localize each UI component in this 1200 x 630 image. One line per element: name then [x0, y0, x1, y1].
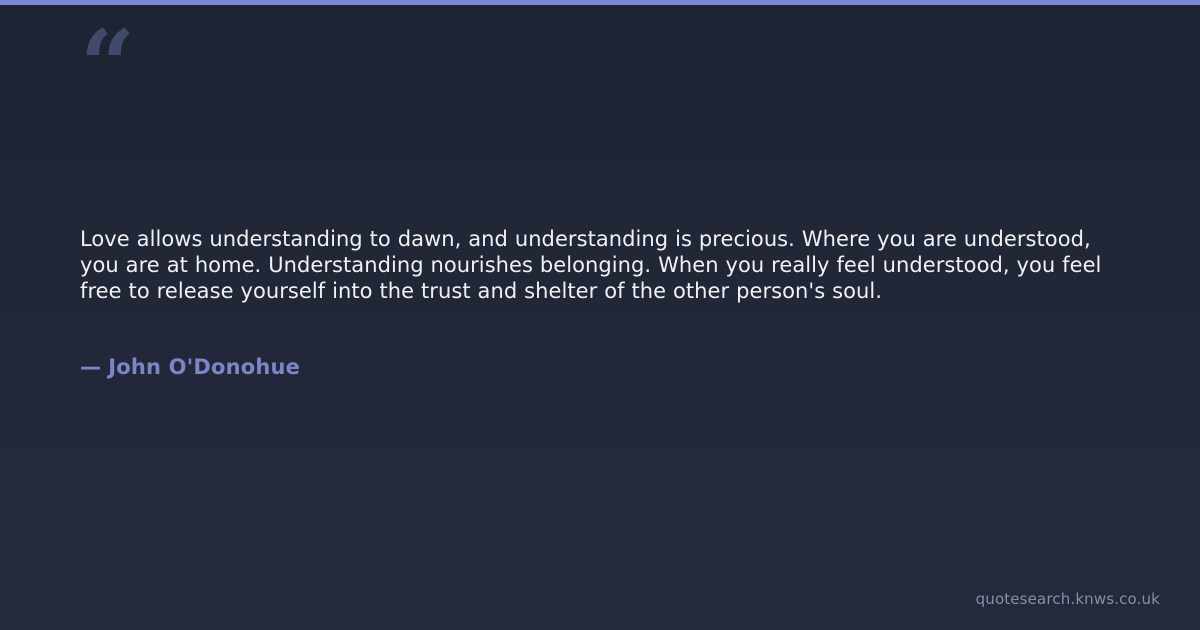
quote-attribution: —John O'Donohue	[80, 353, 300, 381]
author-name: John O'Donohue	[108, 355, 300, 379]
quote-mark-icon: “	[80, 18, 140, 88]
quote-text: Love allows understanding to dawn, and u…	[80, 226, 1128, 304]
quote-card: “ Love allows understanding to dawn, and…	[0, 0, 1200, 630]
site-url-label: quotesearch.knws.co.uk	[976, 589, 1160, 609]
top-accent-bar	[0, 0, 1200, 5]
attribution-dash: —	[80, 353, 101, 381]
